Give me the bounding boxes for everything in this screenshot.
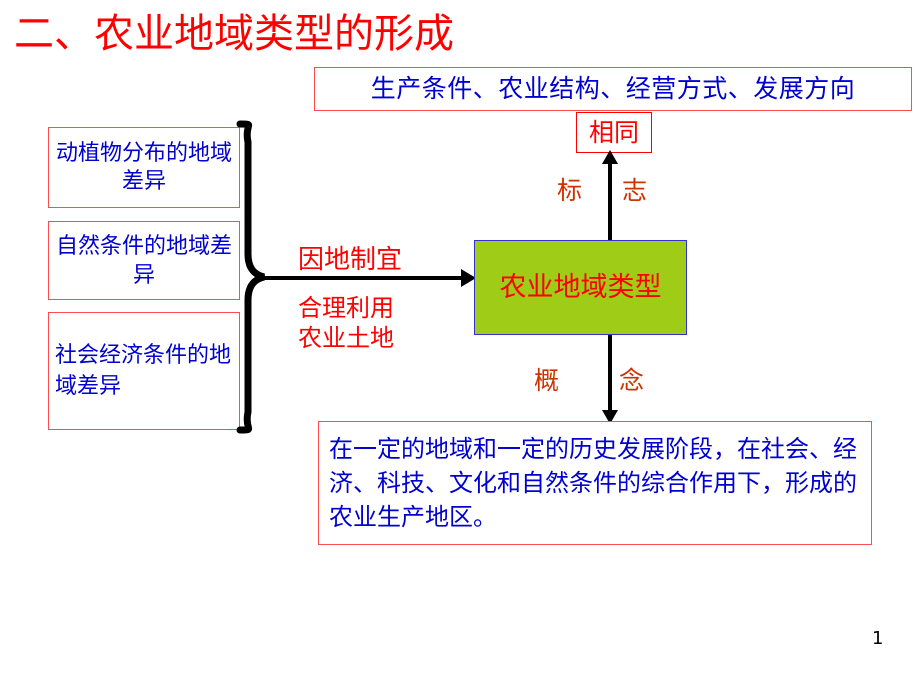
label-concept: 概 念 (534, 366, 670, 396)
top-conditions-box: 生产条件、农业结构、经营方式、发展方向 (314, 67, 912, 111)
label-rational-land-use-line1: 合理利用 (298, 293, 394, 323)
left-box-natural-conditions: 自然条件的地域差异 (48, 221, 240, 300)
label-rational-land-use: 合理利用 农业土地 (298, 293, 394, 353)
curly-brace-icon (218, 120, 268, 435)
label-sign: 标 志 (557, 176, 663, 206)
slide-canvas: 二、农业地域类型的形成 生产条件、农业结构、经营方式、发展方向 相同 标 志 动… (0, 0, 920, 690)
left-box-socioeconomic-conditions: 社会经济条件的地域差异 (48, 312, 240, 430)
center-box-agricultural-region-type: 农业地域类型 (474, 240, 687, 335)
left-box-flora-fauna-distribution: 动植物分布的地域差异 (48, 127, 240, 208)
label-adapt-to-local-conditions: 因地制宜 (298, 245, 402, 275)
label-rational-land-use-line2: 农业土地 (298, 323, 394, 353)
arrow-right-line (262, 276, 464, 280)
same-label-box: 相同 (576, 112, 652, 153)
page-number: 1 (872, 628, 883, 649)
definition-box: 在一定的地域和一定的历史发展阶段，在社会、经济、科技、文化和自然条件的综合作用下… (318, 421, 872, 545)
page-title: 二、农业地域类型的形成 (14, 10, 454, 58)
